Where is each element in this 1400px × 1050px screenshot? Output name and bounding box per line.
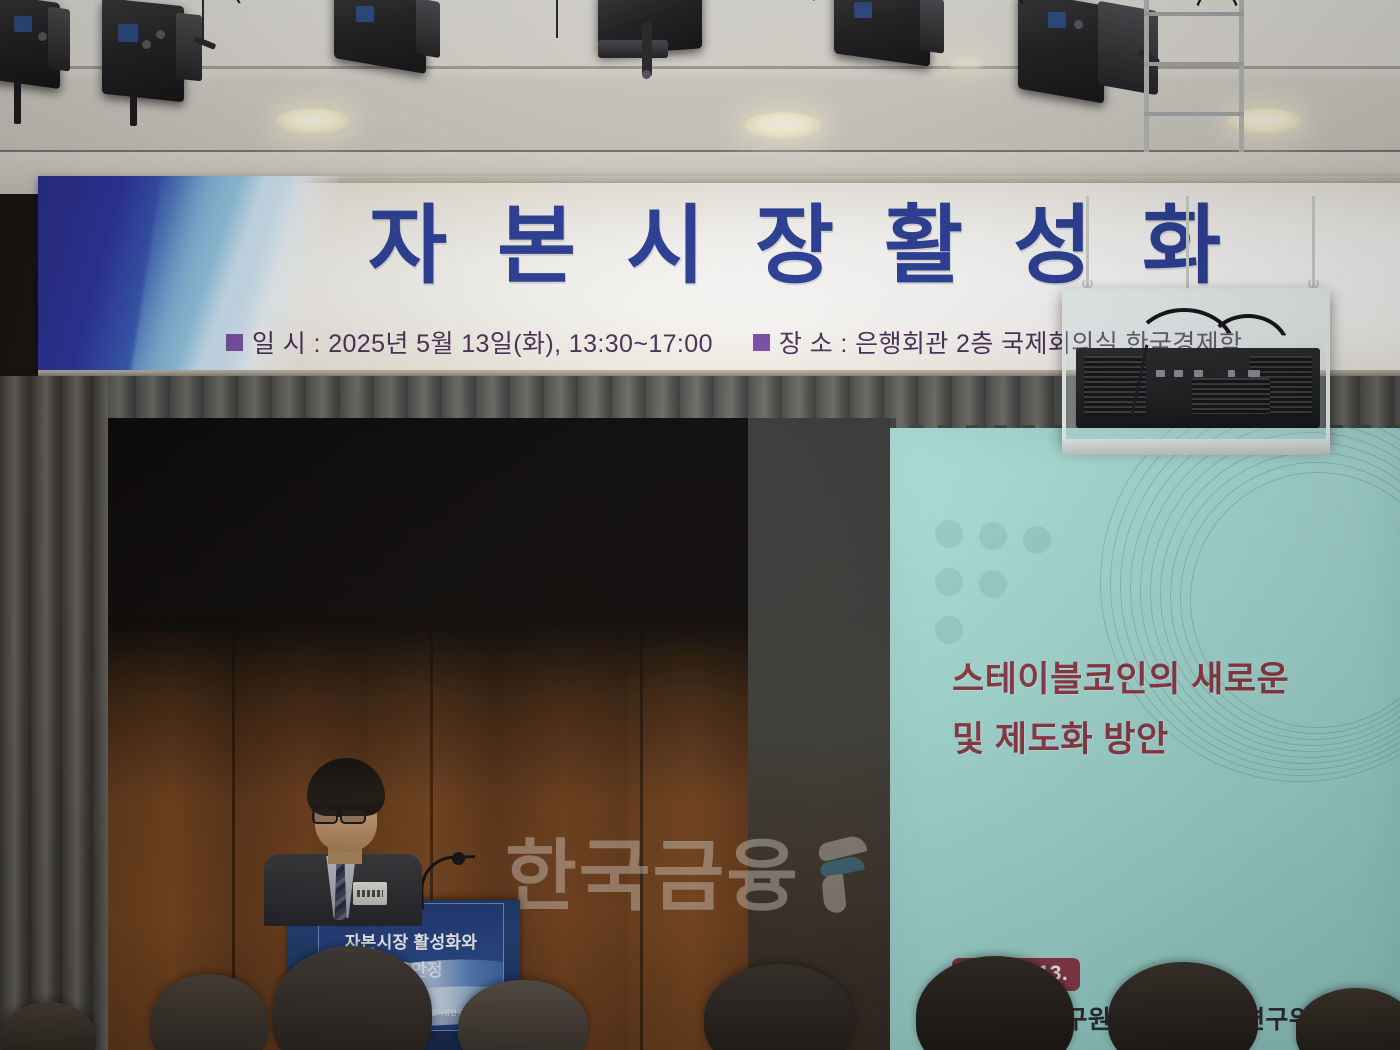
eyeglasses-bridge (338, 814, 342, 817)
projector-port (1194, 370, 1203, 377)
projector-vent (1192, 378, 1270, 414)
ceiling-projector (1062, 288, 1330, 443)
projector-shelf (1062, 439, 1330, 455)
projector-port (1174, 370, 1183, 377)
downlight-icon (744, 112, 822, 139)
slide-title-line-1: 스테이블코인의 새로운 (952, 650, 1382, 710)
eyeglasses-icon (340, 808, 366, 824)
audience-head (0, 1002, 96, 1050)
slide-title: 스테이블코인의 새로운 및 제도화 방안 (952, 650, 1382, 770)
hanging-cable (202, 0, 204, 44)
name-badge (353, 882, 387, 905)
audience-head (1296, 988, 1400, 1050)
wing-swoosh-icon (810, 833, 872, 919)
audience-head (458, 980, 588, 1050)
projector-port (1228, 370, 1235, 377)
downlight-icon (276, 108, 350, 134)
conference-hall-photo: 자 본 시 장 활 성 화 일 시 : 2025년 5월 13일(화), 13:… (0, 0, 1400, 1050)
audience-head (704, 964, 854, 1050)
projector-port (1156, 370, 1165, 377)
projector-hanger (1186, 196, 1189, 288)
projector-hanger (1086, 196, 1089, 288)
audience-head (1108, 962, 1258, 1050)
slide-title-line-2: 및 제도화 방안 (952, 710, 1382, 770)
bullet-square-icon (753, 334, 770, 351)
stage-spotlight (0, 0, 104, 114)
projector-hanger (1312, 196, 1315, 288)
audience-head (272, 946, 432, 1050)
banner-date-label: 일 시 (252, 330, 306, 358)
hanging-cable (152, 0, 248, 34)
projector-body (1076, 348, 1320, 428)
stage-spotlight (330, 0, 460, 108)
projector-port (1248, 370, 1260, 377)
wall-logo-text: 한국금융 (505, 828, 800, 924)
wall-logo: 한국금융 (505, 828, 895, 924)
bullet-square-icon (226, 334, 243, 351)
eyeglasses-icon (312, 808, 338, 824)
hanging-cable (556, 0, 558, 38)
banner-date-value: 2025년 5월 13일(화), 13:30~17:00 (328, 330, 713, 358)
audience-head (150, 974, 268, 1050)
hanging-cable (252, 0, 322, 10)
hanging-cable (880, 0, 1030, 24)
banner-place-label: 장 소 (779, 330, 833, 358)
presenter (252, 758, 428, 918)
audience (0, 930, 1400, 1050)
hanging-cable (700, 0, 820, 18)
audience-head (916, 956, 1074, 1050)
microphone-icon (452, 852, 465, 865)
